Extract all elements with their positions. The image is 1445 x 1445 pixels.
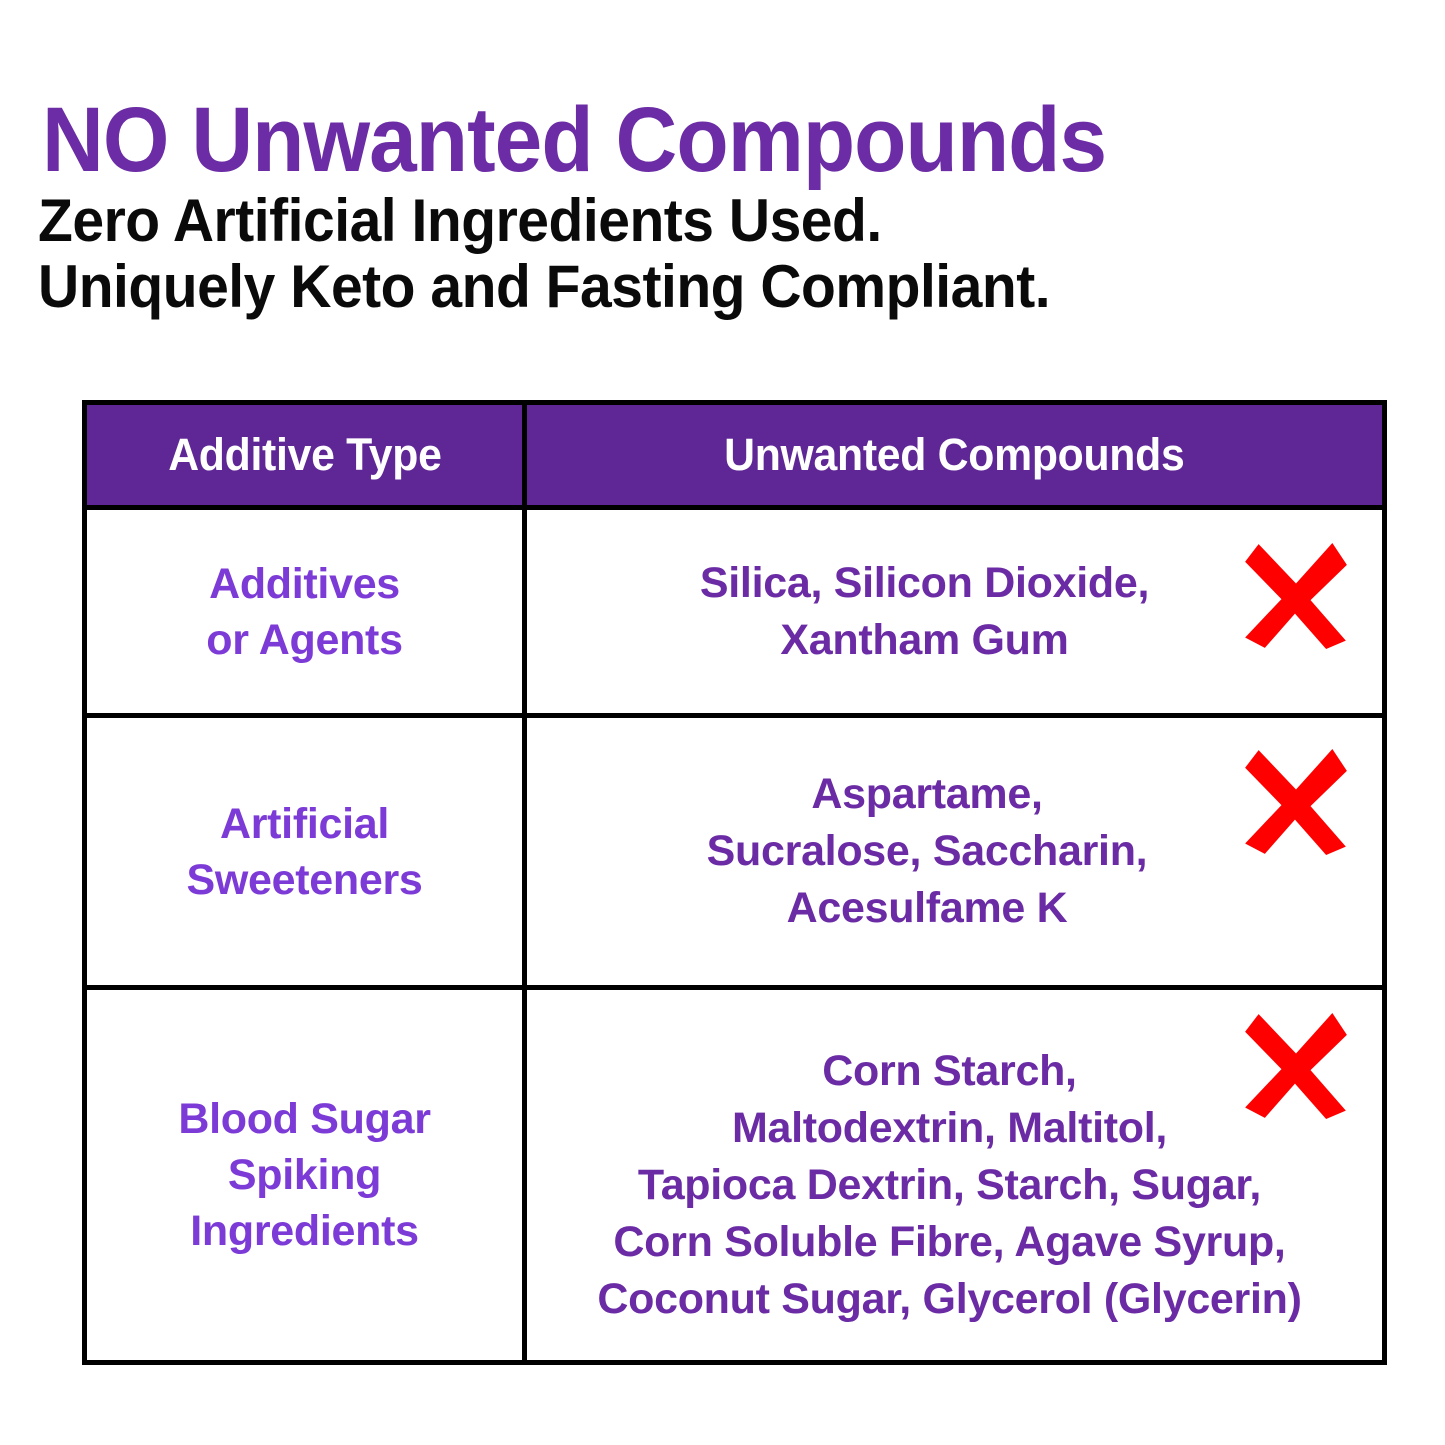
unwanted-compounds-text: Aspartame, Sucralose, Saccharin, Acesulf…	[527, 766, 1382, 937]
compound-line: Coconut Sugar, Glycerol (Glycerin)	[527, 1271, 1372, 1328]
unwanted-compounds-cell: Aspartame, Sucralose, Saccharin, Acesulf…	[525, 716, 1385, 988]
unwanted-compounds-cell: Corn Starch, Maltodextrin, Maltitol, Tap…	[525, 988, 1385, 1363]
unwanted-compounds-table: Additive Type Unwanted Compounds Additiv…	[82, 400, 1387, 1365]
compound-line: Sucralose, Saccharin,	[527, 823, 1327, 880]
unwanted-compounds-cell: Silica, Silicon Dioxide, Xantham Gum	[525, 508, 1385, 716]
additive-type-line: Sweeteners	[87, 852, 522, 908]
additive-type-line: Ingredients	[87, 1203, 522, 1259]
unwanted-compounds-text: Silica, Silicon Dioxide, Xantham Gum	[527, 555, 1382, 669]
compound-line: Silica, Silicon Dioxide,	[527, 555, 1322, 612]
column-header-unwanted-compounds: Unwanted Compounds	[525, 403, 1385, 508]
additive-type-line: Blood Sugar	[87, 1091, 522, 1147]
table-row: Additives or Agents Silica, Silicon Diox…	[85, 508, 1385, 716]
table-header-row: Additive Type Unwanted Compounds	[85, 403, 1385, 508]
column-header-unwanted-compounds-label: Unwanted Compounds	[724, 430, 1184, 480]
compound-line: Corn Starch,	[527, 1043, 1372, 1100]
subtitle-line-1: Zero Artificial Ingredients Used.	[38, 188, 1050, 254]
additive-type-cell: Artificial Sweeteners	[85, 716, 525, 988]
additive-type-cell: Additives or Agents	[85, 508, 525, 716]
compound-line: Aspartame,	[527, 766, 1327, 823]
page-title: NO Unwanted Compounds	[42, 90, 1106, 190]
column-header-additive-type-label: Additive Type	[168, 430, 441, 480]
compound-line: Tapioca Dextrin, Starch, Sugar,	[527, 1157, 1372, 1214]
compound-line: Acesulfame K	[527, 880, 1327, 937]
table-row: Blood Sugar Spiking Ingredients Corn Sta…	[85, 988, 1385, 1363]
unwanted-compounds-text: Corn Starch, Maltodextrin, Maltitol, Tap…	[527, 1023, 1382, 1328]
column-header-additive-type: Additive Type	[85, 403, 525, 508]
additive-type-cell: Blood Sugar Spiking Ingredients	[85, 988, 525, 1363]
compound-line: Xantham Gum	[527, 612, 1322, 669]
subtitle-line-2: Uniquely Keto and Fasting Compliant.	[38, 254, 1050, 320]
additive-type-line: Spiking	[87, 1147, 522, 1203]
additive-type-line: or Agents	[87, 612, 522, 668]
compound-line: Corn Soluble Fibre, Agave Syrup,	[527, 1214, 1372, 1271]
additive-type-line: Artificial	[87, 796, 522, 852]
compound-line: Maltodextrin, Maltitol,	[527, 1100, 1372, 1157]
table-row: Artificial Sweeteners Aspartame, Sucralo…	[85, 716, 1385, 988]
additive-type-line: Additives	[87, 556, 522, 612]
subtitle-block: Zero Artificial Ingredients Used. Unique…	[38, 188, 1050, 320]
